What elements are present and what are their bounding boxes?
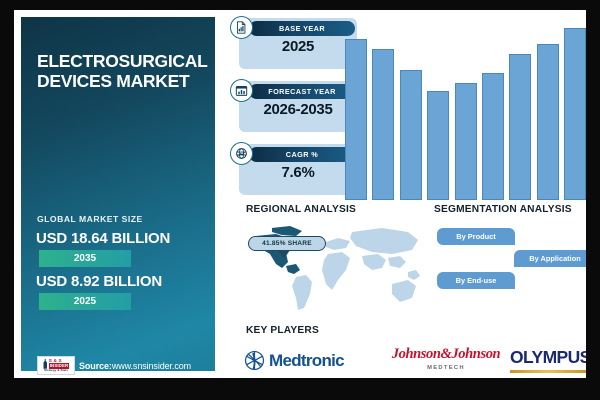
- logo-olympus: OLYMPUS®: [510, 349, 586, 373]
- badge-cagr: CAGR % 7.6%: [239, 144, 357, 195]
- market-growth-bar-chart: [345, 18, 586, 200]
- chart-bar: [564, 28, 586, 200]
- badge-header: FORECAST YEAR: [249, 84, 355, 99]
- segment-pill-by-end-use[interactable]: By End-use: [437, 272, 515, 289]
- jnj-medtech-label: MEDTECH: [390, 365, 502, 371]
- forecast-market-value: USD 18.64 BILLION: [36, 230, 170, 247]
- chart-bar: [372, 49, 394, 200]
- snsinsider-logo-icon: S & S INSIDER Strategy & Stats: [37, 356, 75, 375]
- key-players-title: KEY PLAYERS: [246, 325, 319, 336]
- world-map: 41.85% SHARE: [242, 222, 428, 314]
- outer-frame: ELECTROSURGICAL DEVICES MARKET GLOBAL MA…: [0, 0, 600, 400]
- base-year-badge: 2025: [39, 293, 131, 310]
- olympus-underline-bar: [510, 370, 586, 373]
- chart-bar: [400, 70, 422, 200]
- page-title: ELECTROSURGICAL DEVICES MARKET: [37, 51, 213, 92]
- medtronic-mark-icon: [242, 348, 267, 373]
- source-line: S & S INSIDER Strategy & Stats Source:ww…: [37, 356, 191, 375]
- infographic-canvas: ELECTROSURGICAL DEVICES MARKET GLOBAL MA…: [14, 10, 586, 378]
- badge-header: CAGR %: [249, 147, 355, 162]
- olympus-name: OLYMPUS: [510, 347, 586, 367]
- logo-tagline: Strategy & Stats: [44, 369, 68, 372]
- olympus-wordmark: OLYMPUS®: [510, 349, 586, 367]
- badge-base-year: BASE YEAR 2025: [239, 18, 357, 69]
- chart-bar: [509, 54, 531, 200]
- base-market-value: USD 8.92 BILLION: [36, 273, 162, 290]
- globe-growth-icon: [230, 142, 253, 165]
- chart-bar: [455, 83, 477, 200]
- document-report-icon: [230, 16, 253, 39]
- jnj-wordmark: Johnson&Johnson: [390, 346, 502, 363]
- source-text: Source:www.snsinsider.com: [79, 361, 191, 371]
- badge-label: FORECAST YEAR: [268, 87, 336, 96]
- callout-pointer-icon: [278, 250, 290, 259]
- badge-value: 7.6%: [239, 164, 357, 181]
- medtronic-wordmark: Medtronic: [269, 351, 344, 371]
- forecast-year-badge: 2035: [39, 250, 131, 267]
- chart-bar: [345, 39, 367, 200]
- calendar-chart-icon: [230, 79, 253, 102]
- badge-value: 2025: [239, 38, 357, 55]
- key-players-logos: Medtronic Johnson&Johnson MEDTECH OLYMPU…: [242, 346, 586, 378]
- logo-medtronic: Medtronic: [242, 348, 344, 373]
- chart-bar: [427, 91, 449, 200]
- segmentation-analysis-title: SEGMENTATION ANALYSIS: [434, 204, 572, 215]
- badge-label: CAGR %: [286, 150, 318, 159]
- badge-value: 2026-2035: [239, 101, 357, 118]
- tower-icon: [43, 359, 48, 369]
- logo-johnson-and-johnson: Johnson&Johnson MEDTECH: [390, 346, 502, 371]
- badge-header: BASE YEAR: [249, 21, 355, 36]
- source-url[interactable]: www.snsinsider.com: [112, 361, 191, 371]
- chart-bar: [537, 44, 559, 200]
- badge-forecast-year: FORECAST YEAR 2026-2035: [239, 81, 357, 132]
- segment-pill-by-product[interactable]: By Product: [437, 228, 515, 245]
- regional-analysis-title: REGIONAL ANALYSIS: [246, 204, 356, 215]
- segment-pill-by-application[interactable]: By Application: [514, 250, 586, 267]
- source-label: Source:: [79, 361, 112, 371]
- regional-share-callout: 41.85% SHARE: [248, 236, 326, 251]
- badge-label: BASE YEAR: [279, 24, 325, 33]
- global-market-size-label: GLOBAL MARKET SIZE: [37, 214, 143, 224]
- chart-bar: [482, 73, 504, 200]
- left-summary-panel: ELECTROSURGICAL DEVICES MARKET GLOBAL MA…: [18, 14, 218, 374]
